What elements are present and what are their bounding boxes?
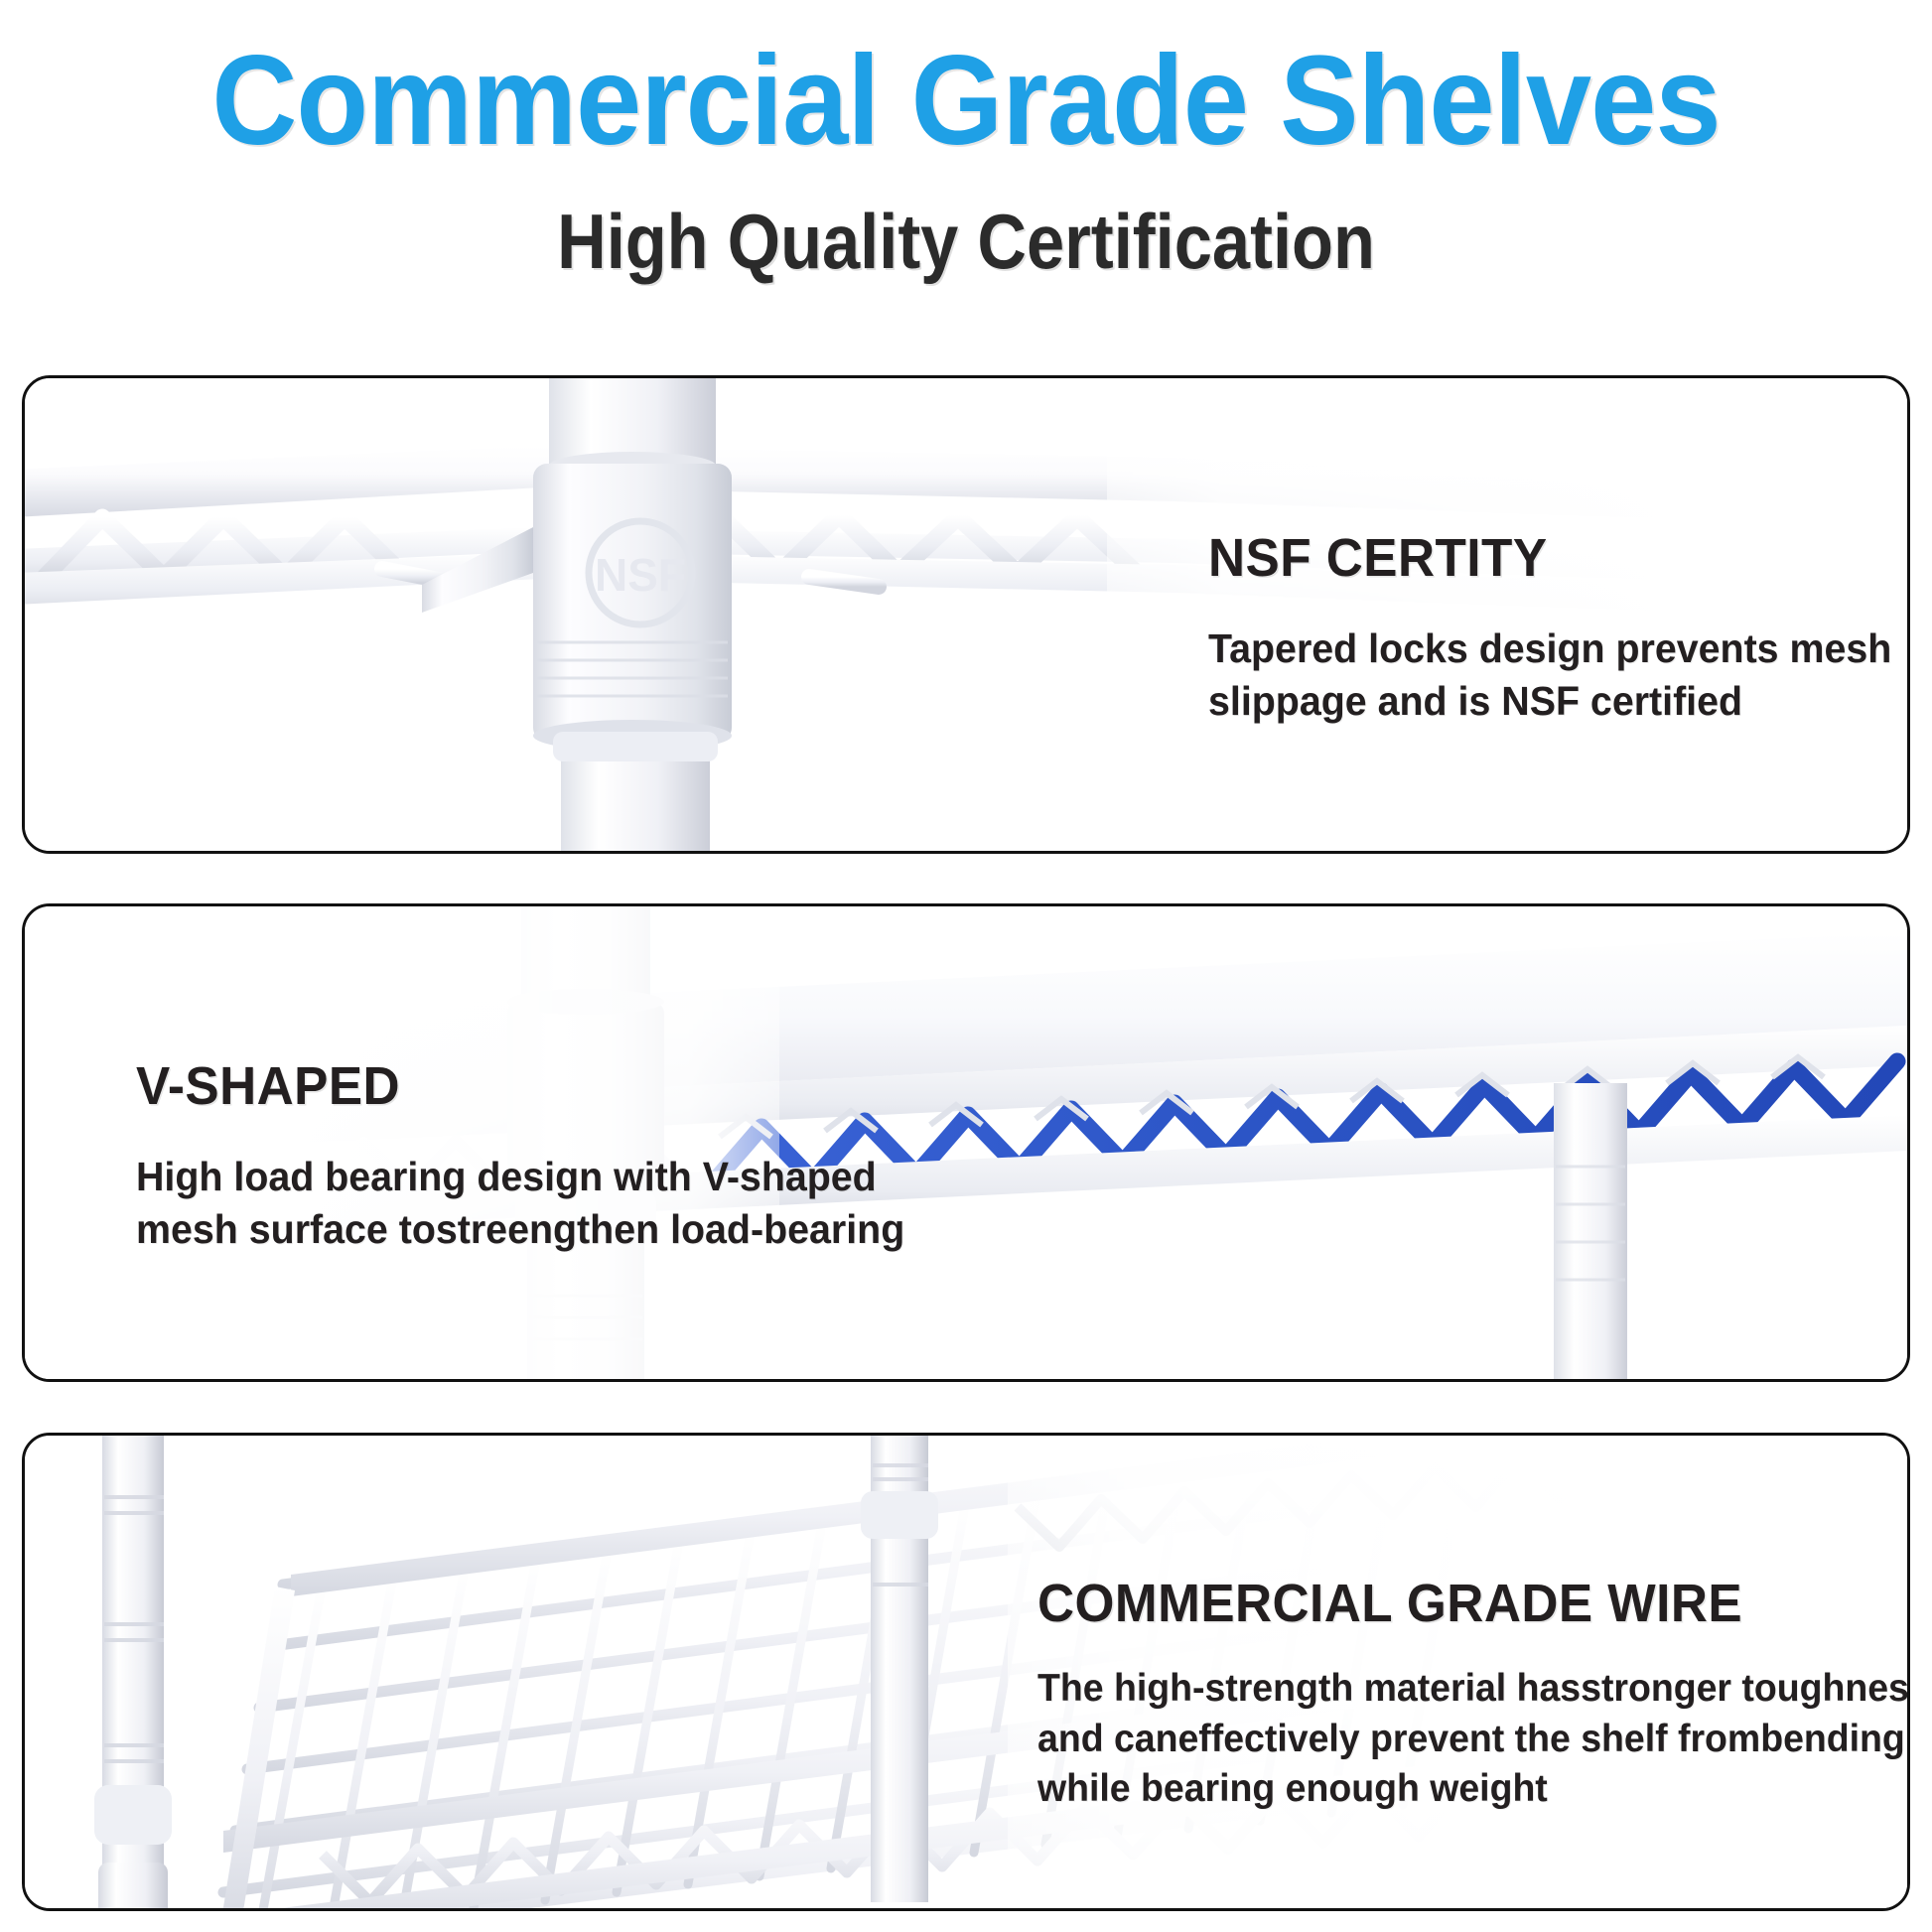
panel-body-line: High load bearing design with V-shaped: [136, 1151, 803, 1203]
panel-body-nsf: Tapered locks design prevents mesh slipp…: [1208, 622, 1875, 729]
panel-body-line: slippage and is NSF certified: [1208, 675, 1875, 728]
panel-body-wire: The high-strength material hasstronger t…: [1037, 1664, 1876, 1815]
panel-body-line: while bearing enough weight: [1037, 1764, 1876, 1815]
panel-body-vshaped: High load bearing design with V-shaped m…: [136, 1151, 803, 1257]
text-block-nsf: NSF CERTITY Tapered locks design prevent…: [1208, 527, 1903, 729]
panel-body-line: and caneffectively prevent the shelf fro…: [1037, 1715, 1876, 1765]
panel-body-line: Tapered locks design prevents mesh: [1208, 622, 1875, 675]
text-block-vshaped: V-SHAPED High load bearing design with V…: [136, 1055, 831, 1257]
feature-card-vshaped: V-SHAPED High load bearing design with V…: [22, 903, 1910, 1382]
feature-card-wire: COMMERCIAL GRADE WIRE The high-strength …: [22, 1433, 1910, 1911]
panel-heading-vshaped: V-SHAPED: [136, 1055, 796, 1117]
page-title: Commercial Grade Shelves: [68, 38, 1864, 165]
panel-body-line: mesh surface tostreengthen load-bearing: [136, 1203, 803, 1256]
text-block-wire: COMMERCIAL GRADE WIRE The high-strength …: [1037, 1573, 1910, 1815]
page-subtitle: High Quality Certification: [116, 203, 1816, 280]
infographic-page: Commercial Grade Shelves High Quality Ce…: [0, 0, 1932, 1932]
panel-heading-nsf: NSF CERTITY: [1208, 527, 1868, 589]
feature-card-nsf: NSF NSF CERTITY Tapered locks design pre…: [22, 375, 1910, 854]
header: Commercial Grade Shelves High Quality Ce…: [0, 0, 1932, 280]
panel-body-line: The high-strength material hasstronger t…: [1037, 1664, 1876, 1715]
panel-heading-wire: COMMERCIAL GRADE WIRE: [1037, 1573, 1867, 1634]
nsf-emboss-text: NSF: [595, 549, 686, 601]
